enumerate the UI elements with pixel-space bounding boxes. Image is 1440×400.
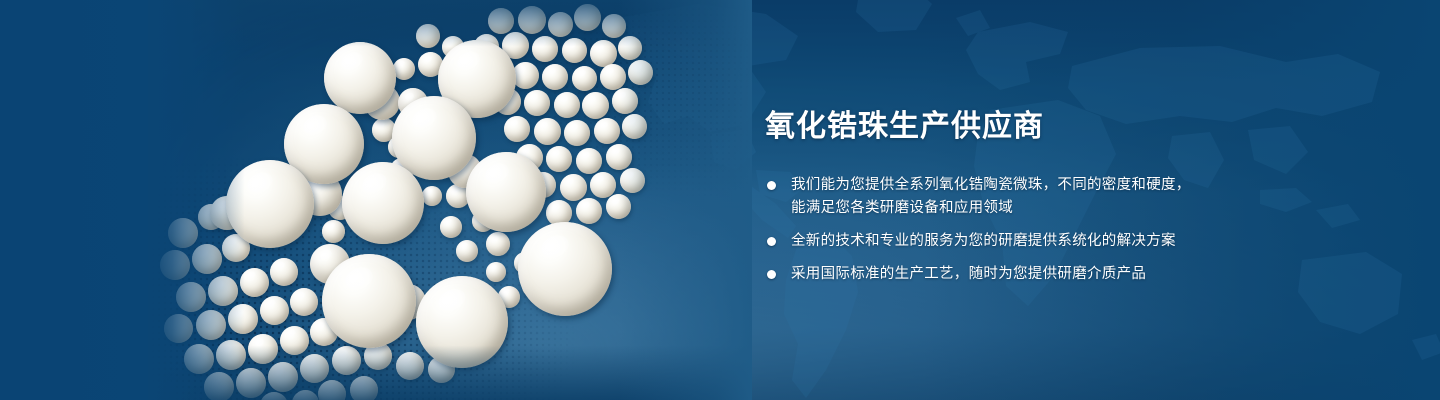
feature-list: 我们能为您提供全系列氧化锆陶瓷微珠，不同的密度和硬度， 能满足您各类研磨设备和应… [765,174,1235,286]
list-item: 我们能为您提供全系列氧化锆陶瓷微珠，不同的密度和硬度， 能满足您各类研磨设备和应… [765,174,1235,220]
feature-text-line1: 我们能为您提供全系列氧化锆陶瓷微珠，不同的密度和硬度， [791,177,1191,193]
bullet-dot-icon [767,237,776,246]
list-item: 全新的技术和专业的服务为您的研磨提供系统化的解决方案 [765,230,1235,253]
bullet-dot-icon [767,181,776,190]
list-item: 采用国际标准的生产工艺，随时为您提供研磨介质产品 [765,263,1235,286]
feature-text-line2: 能满足您各类研磨设备和应用领域 [791,197,1235,220]
bead-cluster [150,0,750,400]
banner-text-block: 氧化锆珠生产供应商 我们能为您提供全系列氧化锆陶瓷微珠，不同的密度和硬度， 能满… [765,108,1235,286]
hero-banner: 氧化锆珠生产供应商 我们能为您提供全系列氧化锆陶瓷微珠，不同的密度和硬度， 能满… [0,0,1440,400]
feature-text-line1: 采用国际标准的生产工艺，随时为您提供研磨介质产品 [791,266,1146,282]
feature-text-line1: 全新的技术和专业的服务为您的研磨提供系统化的解决方案 [791,233,1176,249]
banner-headline: 氧化锆珠生产供应商 [765,108,1235,146]
zirconia-beads-photo [150,0,750,400]
bullet-dot-icon [767,270,776,279]
